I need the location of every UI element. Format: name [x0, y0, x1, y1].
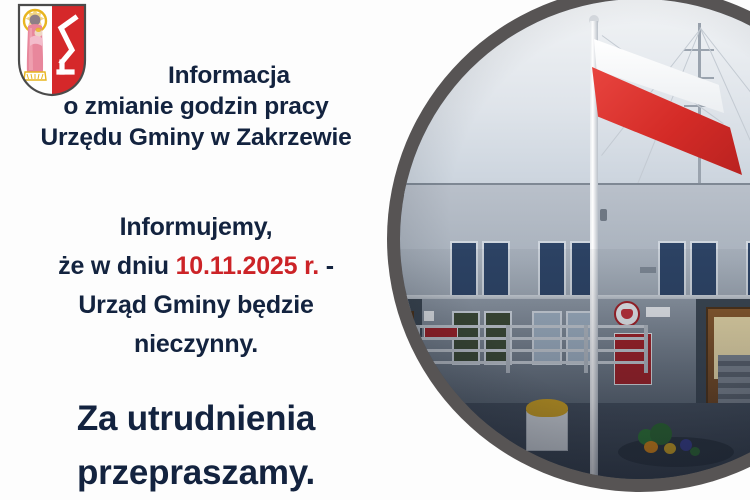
text-panel: Informacja o zmianie godzin pracy Urzędu…	[0, 0, 392, 500]
photo-ring	[387, 0, 750, 492]
window	[482, 241, 510, 303]
flower-planter	[526, 411, 568, 451]
side-door[interactable]	[400, 311, 414, 403]
window	[746, 241, 750, 303]
wall-fixture	[640, 267, 656, 273]
body-line-1: Informujemy,	[0, 208, 392, 247]
plate-small	[424, 311, 434, 321]
flowers	[526, 399, 568, 417]
terrace-railing	[416, 325, 648, 371]
bloom-yellow	[664, 443, 676, 454]
window	[450, 241, 478, 303]
shrub	[690, 447, 700, 456]
photo-scene	[400, 0, 750, 479]
body-line-2-prefix: że w dniu	[58, 252, 175, 280]
window	[690, 241, 718, 303]
railing-post	[506, 325, 510, 373]
national-emblem-sign	[614, 301, 640, 327]
title-line-1: Informacja	[0, 60, 392, 91]
bloom-orange	[644, 441, 658, 453]
apology-line-2: przepraszamy.	[0, 446, 392, 500]
railing-post	[584, 325, 588, 373]
apology-line-1: Za utrudnienia	[0, 392, 392, 446]
name-plate	[646, 307, 670, 317]
flowers	[426, 401, 460, 417]
railing-post	[416, 325, 420, 373]
apology-message: Za utrudnienia przepraszamy.	[0, 392, 392, 500]
page-title: Informacja o zmianie godzin pracy Urzędu…	[0, 60, 392, 153]
body-line-3: Urząd Gminy będzie	[0, 286, 392, 325]
door-glass	[400, 321, 411, 375]
announcement-body: Informujemy, że w dniu 10.11.2025 r. - U…	[0, 208, 392, 364]
body-line-2-suffix: -	[319, 252, 334, 280]
body-line-2: że w dniu 10.11.2025 r. -	[0, 247, 392, 286]
title-line-2: o zmianie godzin pracy	[0, 91, 392, 122]
wall-lamp	[600, 209, 607, 221]
railing-post	[644, 325, 648, 373]
window	[538, 241, 566, 303]
flower-bed	[618, 437, 734, 467]
poster-canvas: Informacja o zmianie godzin pracy Urzędu…	[0, 0, 750, 500]
window	[658, 241, 686, 303]
closure-date: 10.11.2025 r.	[176, 252, 319, 280]
title-line-3: Urzędu Gminy w Zakrzewie	[0, 122, 392, 153]
body-line-4: nieczynny.	[0, 325, 392, 364]
office-building-photo	[400, 0, 750, 479]
